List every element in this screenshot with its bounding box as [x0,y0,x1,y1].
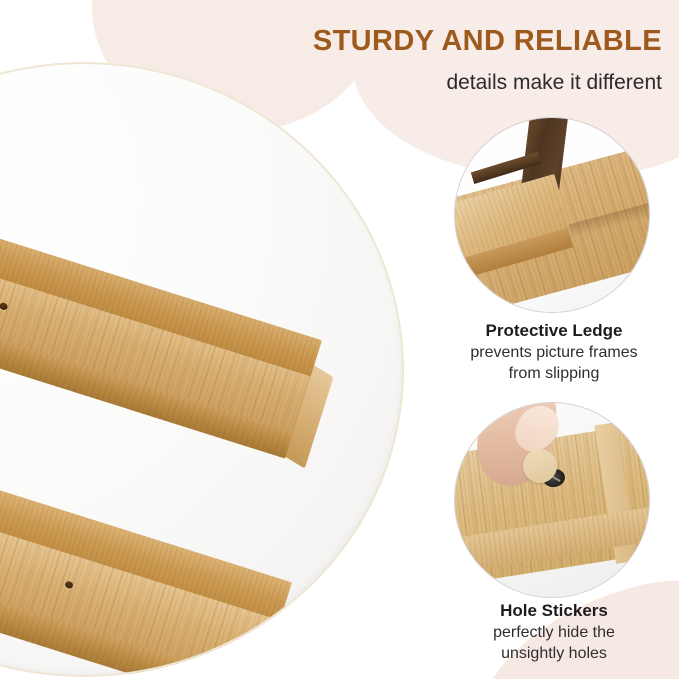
caption-body-line-1: perfectly hide the [430,623,678,643]
headline: STURDY AND RELIABLE [240,26,662,56]
caption-title: Protective Ledge [430,320,678,342]
caption-hole-stickers: Hole Stickers perfectly hide the unsight… [430,600,678,664]
caption-protective-ledge: Protective Ledge prevents picture frames… [430,320,678,384]
caption-body-line-2: from slipping [430,364,678,384]
caption-body-line-2: unsightly holes [430,644,678,664]
hero-product-photo [0,62,404,677]
caption-title: Hole Stickers [430,600,678,622]
hole-sticker [523,449,557,483]
product-infographic: STURDY AND RELIABLE details make it diff… [0,0,679,679]
subheadline: details make it different [240,70,662,95]
feature-photo-protective-ledge [454,117,650,313]
ledge-shelf-upper [0,214,322,502]
feature-photo-hole-stickers [454,402,650,598]
caption-body-line-1: prevents picture frames [430,343,678,363]
